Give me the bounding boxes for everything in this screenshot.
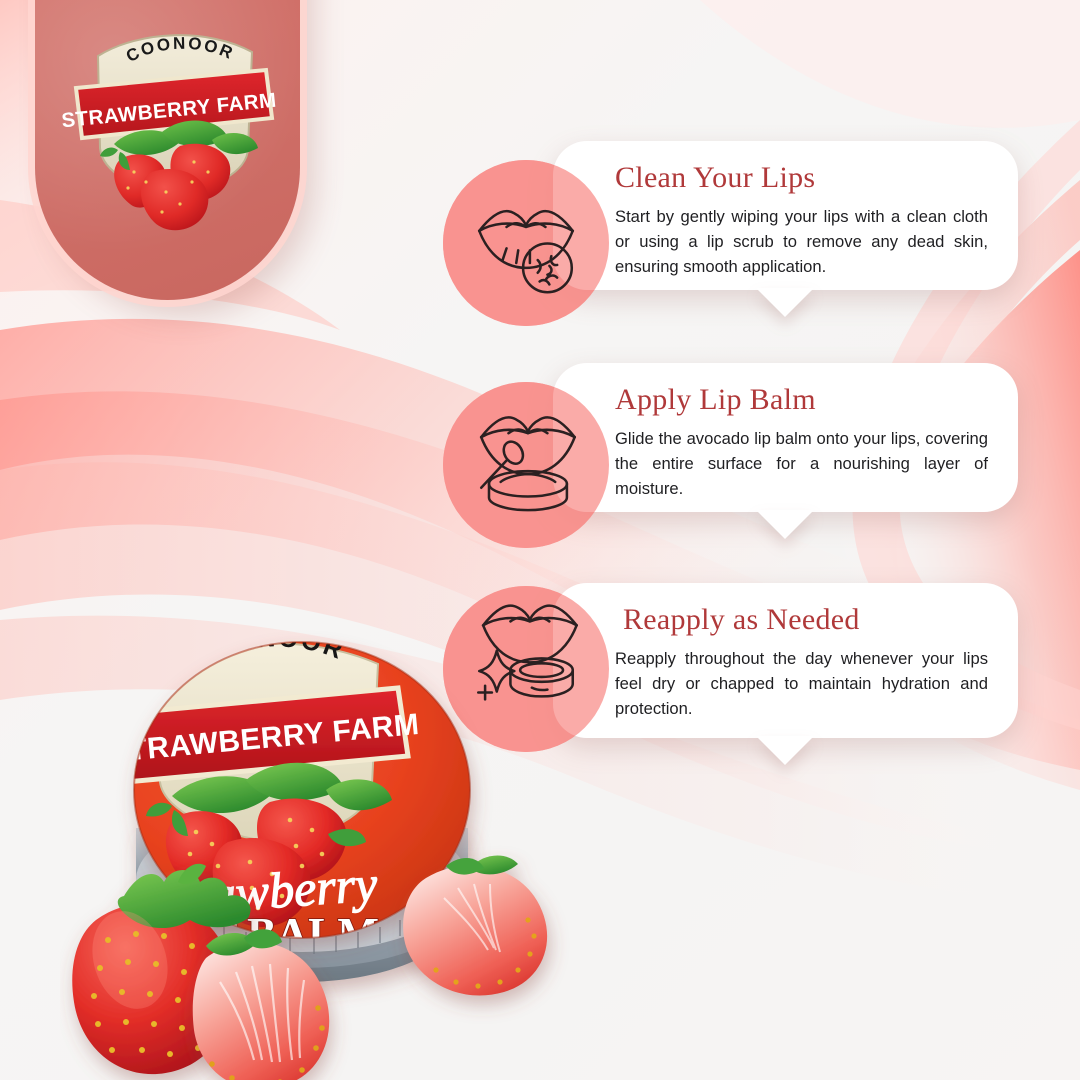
step-1-bubble[interactable]: Clean Your Lips Start by gently wiping y… [553,141,1018,290]
step-3-body: Reapply throughout the day whenever your… [615,646,988,722]
step-3-bubble[interactable]: Reapply as Needed Reapply throughout the… [553,583,1018,738]
step-1-bubble-tail [756,288,814,317]
infographic-canvas: COONOOR STRAWBERRY FARM Clean Your Lip [0,0,1080,1080]
lips-scrub-icon [467,188,585,300]
step-2-bubble-tail [756,510,814,539]
step-2-bubble[interactable]: Apply Lip Balm Glide the avocado lip bal… [553,363,1018,512]
step-2-title: Apply Lip Balm [615,383,988,417]
step-1-body: Start by gently wiping your lips with a … [615,204,988,280]
step-3-bubble-tail [756,736,814,765]
product-photo: COONOOR STRAWBERRY FARM [60,630,580,1080]
step-2-body: Glide the avocado lip balm onto your lip… [615,426,988,502]
strawberry-farm-badge-icon: COONOOR STRAWBERRY FARM [62,22,282,232]
lips-applicator-balm-icon [467,404,585,516]
step-3-title: Reapply as Needed [615,603,988,637]
step-1-title: Clean Your Lips [615,161,988,195]
